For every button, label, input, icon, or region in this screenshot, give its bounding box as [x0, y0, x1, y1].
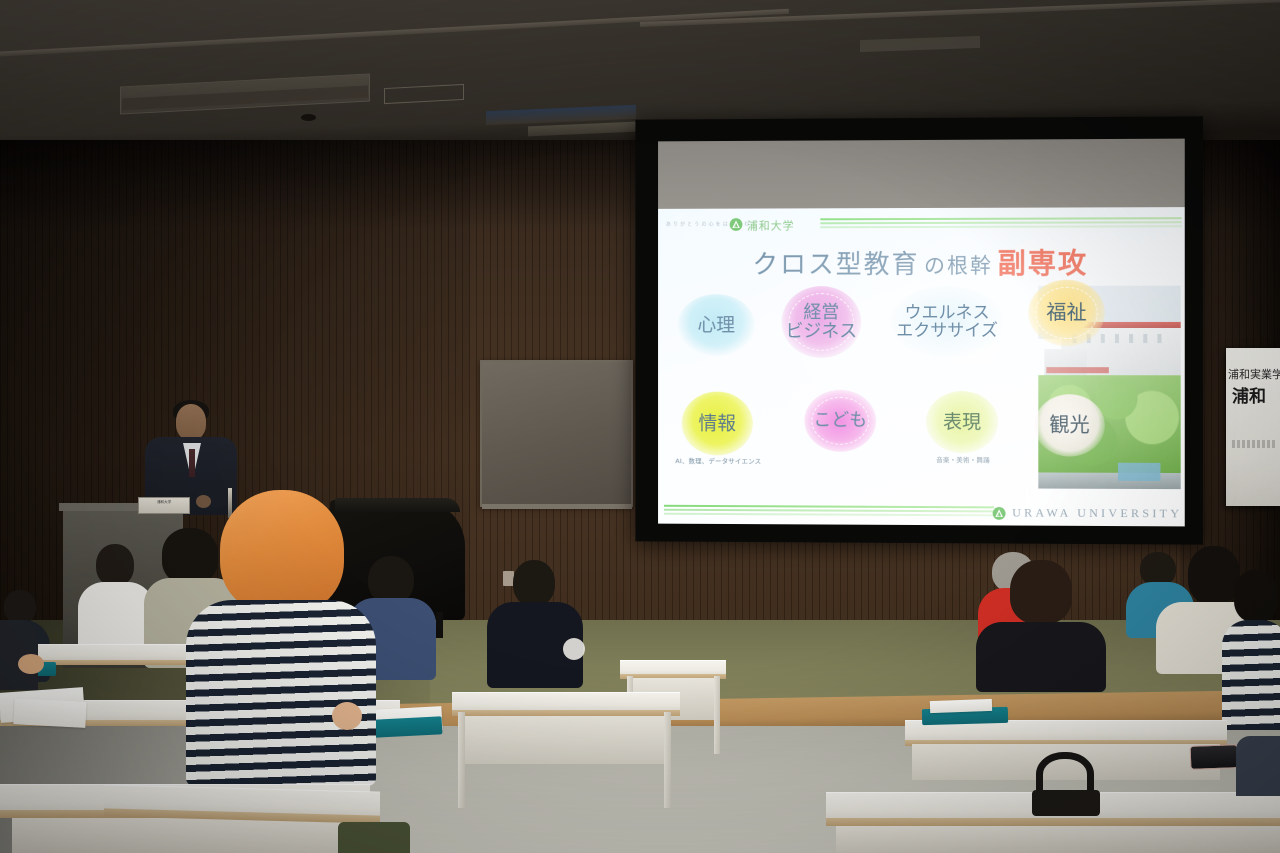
screen-blank-margin	[658, 139, 1185, 209]
attendee-hand	[18, 654, 44, 674]
attendee-body	[976, 622, 1106, 692]
attendee-head	[1234, 570, 1278, 622]
photo-pool	[1118, 462, 1161, 480]
piano-lid	[335, 498, 460, 512]
event-banner: 浦和実業学 浦和	[1226, 348, 1280, 506]
handout-paper	[930, 699, 992, 713]
photo-red-signage	[1047, 367, 1110, 373]
ceiling-sensor-icon	[301, 114, 316, 121]
bubble-label: 情報	[698, 413, 736, 433]
banner-line-1: 浦和実業学	[1228, 366, 1280, 382]
bubble-label: 表現	[943, 412, 981, 433]
subject-bubble-hyogen: 表現	[926, 391, 998, 453]
presentation-slide: ありがとうの心をはぐくむ 浦和大学 クロス型教育 の根幹	[658, 207, 1185, 526]
subject-bubble-kodomo: こども	[804, 390, 876, 452]
attendee-head	[162, 528, 218, 584]
attendee-striped-top	[186, 600, 376, 786]
photo-window	[1115, 334, 1119, 343]
bubble-label: ウエルネス エクササイズ	[896, 304, 998, 341]
attendee-head	[1140, 552, 1176, 586]
desk-surface	[452, 692, 680, 712]
whiteboard	[480, 360, 633, 507]
slide-title-part1: クロス型教育	[752, 250, 919, 280]
ceiling-panel-seam	[860, 36, 980, 52]
projection-screen: ありがとうの心をはぐくむ 浦和大学 クロス型教育 の根幹	[635, 116, 1203, 544]
bubble-label: 観光	[1049, 415, 1089, 437]
subject-sublabel-hyogen: 音楽・美術・舞踊	[918, 454, 1008, 464]
slide-title-highlight: 副専攻	[998, 247, 1089, 280]
teal-folder	[374, 716, 443, 738]
handout-paper	[13, 698, 86, 728]
attendee-head	[368, 556, 414, 604]
photo-window	[1144, 334, 1148, 343]
desk-panel	[462, 716, 668, 764]
subject-sublabel-joho: AI、数理、データサイエンス	[660, 455, 777, 465]
attendee-sleeve-logo	[563, 638, 585, 660]
slide-brand-text: URAWA UNIVERSITY	[1012, 505, 1182, 521]
desk-panel	[12, 818, 358, 853]
slide-logo-text: 浦和大学	[747, 217, 795, 233]
presenter-head	[176, 404, 206, 440]
whiteboard-tray	[482, 504, 632, 509]
bubble-label-line2: エクササイズ	[896, 321, 998, 341]
bubble-label-line1: 経営	[803, 302, 839, 323]
slide-title: クロス型教育 の根幹 副専攻	[658, 241, 1185, 282]
photo-window	[1129, 334, 1133, 343]
bubble-label: 福祉	[1046, 302, 1086, 324]
desk-leg	[458, 712, 465, 808]
podium-sign-text: 浦和大学	[139, 500, 189, 505]
photo-window	[1101, 334, 1105, 343]
ceiling-rail	[0, 9, 789, 57]
attendee-hand	[332, 702, 362, 730]
presenter-tie	[189, 449, 195, 477]
smartphone	[1190, 744, 1239, 770]
attendee-head	[96, 544, 134, 586]
triangle-leaf-icon	[729, 218, 743, 232]
banner-footer-mark	[1232, 440, 1276, 448]
subject-bubble-joho: 情報	[682, 392, 753, 456]
slide-footer-accent-lines	[664, 505, 994, 519]
photo-window	[1158, 334, 1162, 343]
screen-surface: ありがとうの心をはぐくむ 浦和大学 クロス型教育 の根幹	[658, 139, 1185, 527]
subject-bubble-wellness: ウエルネス エクササイズ	[890, 286, 1004, 358]
attendee-head	[1188, 546, 1240, 604]
lecture-hall-scene: 浦和実業学 浦和 ありがとうの心をはぐくむ 浦和大学	[0, 0, 1280, 853]
attendee-head	[513, 560, 555, 606]
attendee-head	[4, 590, 36, 624]
bubble-label: こども	[813, 411, 867, 431]
banner-line-2: 浦和	[1232, 382, 1280, 407]
slide-header-accent-lines	[820, 217, 1181, 231]
desk-edge	[826, 818, 1280, 826]
slide-title-part2: の根幹	[924, 254, 993, 278]
subject-bubble-kanko: 観光	[1034, 394, 1105, 456]
subject-bubble-fukushi: 福祉	[1028, 280, 1105, 346]
attendee-body	[1236, 736, 1280, 796]
attendee-head	[1010, 560, 1072, 624]
desk-leg	[664, 712, 671, 808]
bubble-label-line1: ウエルネス	[905, 303, 990, 323]
slide-footer: URAWA UNIVERSITY	[658, 503, 1185, 524]
subject-bubble-shinri: 心理	[678, 294, 755, 356]
handbag	[1032, 790, 1100, 816]
bubble-label: 心理	[697, 315, 735, 335]
bubble-label: 経営 ビジネス	[786, 303, 858, 342]
attendee-hair	[220, 490, 344, 614]
podium-sign: 浦和大学	[138, 497, 190, 514]
piano-leg	[436, 612, 443, 638]
slide-header: ありがとうの心をはぐくむ 浦和大学	[658, 211, 1185, 237]
presenter-hand	[196, 495, 211, 508]
subject-bubble-keiei: 経営 ビジネス	[782, 286, 862, 358]
desk-panel	[836, 826, 1280, 853]
tote-bag	[338, 822, 410, 853]
ceiling-access-hatch	[384, 84, 464, 104]
bubble-label-line2: ビジネス	[786, 321, 858, 342]
attendee-body	[1222, 620, 1280, 730]
triangle-leaf-icon	[992, 506, 1006, 520]
desk-leg	[714, 676, 720, 754]
